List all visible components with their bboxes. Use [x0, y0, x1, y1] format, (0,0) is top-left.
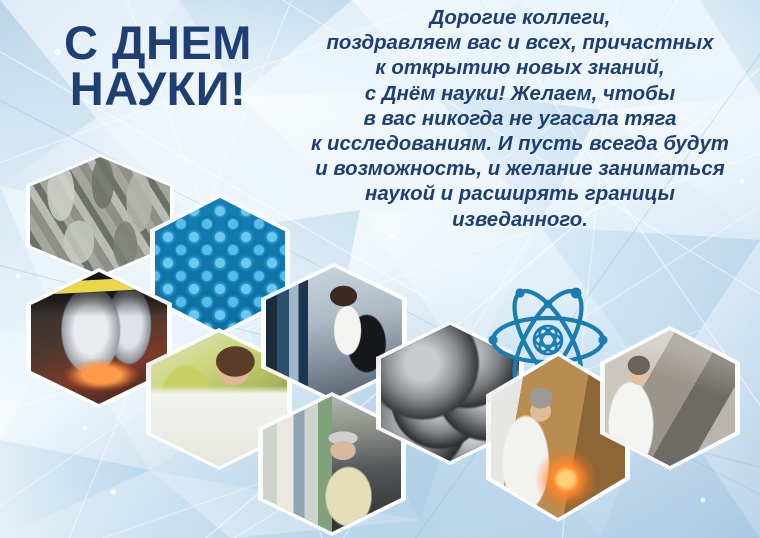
- greeting-line-3: к открытию новых знаний,: [285, 56, 755, 81]
- page-title-line-2: НАУКИ!: [8, 66, 308, 112]
- page-title-line-1: С ДНЕМ: [8, 20, 308, 66]
- greeting-line-6: к исследованиям. И пусть всегда будут: [285, 132, 755, 157]
- greeting-line-7: и возможность, и желание заниматься: [285, 157, 755, 182]
- greeting-line-5: в вас никогда не угасала тяга: [285, 107, 755, 132]
- greeting-line-2: поздравляем вас и всех, причастных: [285, 31, 755, 56]
- science-day-greeting-poster: С ДНЕМ НАУКИ! Дорогие коллеги, поздравля…: [0, 0, 760, 538]
- page-title: С ДНЕМ НАУКИ!: [8, 20, 308, 112]
- greeting-text: Дорогие коллеги, поздравляем вас и всех,…: [285, 6, 755, 233]
- greeting-line-8: наукой и расширять границы: [285, 182, 755, 207]
- greeting-line-9: изведанного.: [285, 208, 755, 233]
- greeting-line-1: Дорогие коллеги,: [285, 6, 755, 31]
- greeting-line-4: с Днём науки! Желаем, чтобы: [285, 82, 755, 107]
